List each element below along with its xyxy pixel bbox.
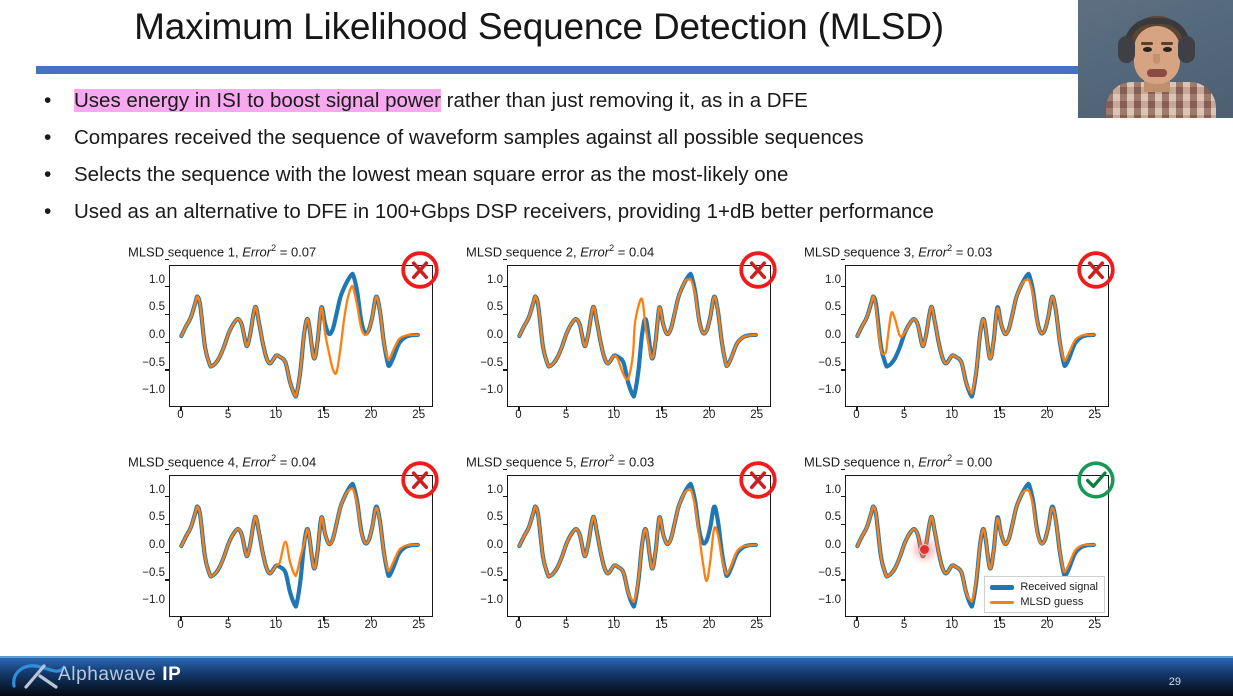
chart-legend: Received signalMLSD guess xyxy=(984,576,1105,613)
y-tick-label: −0.5 xyxy=(113,358,165,369)
panel-title-prefix: MLSD sequence xyxy=(128,244,224,259)
panel-title: MLSD sequence n, Error2 = 0.00 xyxy=(804,453,992,469)
bullet-rest-text: Compares received the sequence of wavefo… xyxy=(74,126,864,149)
panel-error-exponent: 2 xyxy=(947,243,952,253)
x-axis-ticks: 0510152025 xyxy=(169,409,433,425)
mlsd-panel-4: MLSD sequence 4, Error2 = 0.04−1.0−0.50.… xyxy=(112,453,449,653)
panel-error-exponent: 2 xyxy=(271,453,276,463)
mlsd-panel-5: MLSD sequence 5, Error2 = 0.03−1.0−0.50.… xyxy=(450,453,787,653)
bullet-item-1: •Uses energy in ISI to boost signal powe… xyxy=(36,86,1096,123)
bullet-item-4: •Used as an alternative to DFE in 100+Gb… xyxy=(36,197,1096,234)
x-tick-label: 5 xyxy=(901,409,907,421)
y-tick-label: 0.0 xyxy=(113,540,165,551)
panel-error-value: 0.07 xyxy=(291,244,316,259)
y-axis-ticks: −1.0−0.50.00.51.0 xyxy=(450,265,503,407)
panel-error-label: Error xyxy=(242,244,271,259)
bullet-rest-text: Used as an alternative to DFE in 100+Gbp… xyxy=(74,200,934,223)
x-tick-label: 0 xyxy=(515,409,521,421)
y-tick-label: −1.0 xyxy=(451,595,503,606)
y-tick-label: 1.0 xyxy=(789,485,841,496)
y-tick-label: 0.5 xyxy=(451,302,503,313)
x-tick-label: 0 xyxy=(853,409,859,421)
brand-bold-text: IP xyxy=(162,664,181,685)
bullet-list: •Uses energy in ISI to boost signal powe… xyxy=(36,86,1096,234)
panel-sequence-label: 4 xyxy=(228,454,235,469)
legend-swatch xyxy=(990,601,1014,604)
x-tick-label: 25 xyxy=(412,409,425,421)
x-tick-label: 25 xyxy=(1088,409,1101,421)
panel-error-value: 0.00 xyxy=(967,454,992,469)
x-tick-label: 25 xyxy=(1088,619,1101,631)
panel-error-label: Error xyxy=(918,244,947,259)
panel-error-label: Error xyxy=(242,454,271,469)
bullet-text: Compares received the sequence of wavefo… xyxy=(74,123,864,153)
y-tick-label: −0.5 xyxy=(451,358,503,369)
green-check-circle-icon xyxy=(1075,459,1117,501)
panel-title: MLSD sequence 2, Error2 = 0.04 xyxy=(466,243,654,259)
panel-title: MLSD sequence 1, Error2 = 0.07 xyxy=(128,243,316,259)
y-tick-label: −1.0 xyxy=(789,385,841,396)
panel-error-label: Error xyxy=(580,244,609,259)
x-tick-label: 10 xyxy=(607,619,620,631)
bullet-item-2: •Compares received the sequence of wavef… xyxy=(36,123,1096,160)
legend-label: Received signal xyxy=(1020,581,1098,593)
x-tick-label: 15 xyxy=(317,409,330,421)
panel-title-prefix: MLSD sequence xyxy=(804,244,900,259)
x-tick-label: 5 xyxy=(563,409,569,421)
x-tick-label: 0 xyxy=(853,619,859,631)
bullet-text: Selects the sequence with the lowest mea… xyxy=(74,160,788,190)
y-tick-label: −0.5 xyxy=(451,568,503,579)
panel-title: MLSD sequence 4, Error2 = 0.04 xyxy=(128,453,316,469)
y-tick-label: −1.0 xyxy=(451,385,503,396)
y-tick-label: 1.0 xyxy=(451,275,503,286)
x-axis-ticks: 0510152025 xyxy=(169,619,433,635)
y-tick-label: 1.0 xyxy=(451,485,503,496)
x-tick-label: 15 xyxy=(993,619,1006,631)
mlsd-guess-line xyxy=(519,489,755,602)
x-tick-label: 15 xyxy=(655,409,668,421)
legend-entry: MLSD guess xyxy=(990,596,1098,608)
plot-area[interactable]: Received signalMLSD guess xyxy=(845,475,1109,617)
red-x-circle-icon xyxy=(737,459,779,501)
x-tick-label: 5 xyxy=(901,619,907,631)
bullet-marker-icon: • xyxy=(36,86,74,116)
y-tick-label: −1.0 xyxy=(113,385,165,396)
x-tick-label: 25 xyxy=(750,619,763,631)
legend-swatch xyxy=(990,585,1014,590)
panel-error-exponent: 2 xyxy=(609,453,614,463)
slide-footer: Alphawave IP 29 xyxy=(0,656,1233,696)
bullet-marker-icon: • xyxy=(36,160,74,190)
y-axis-ticks: −1.0−0.50.00.51.0 xyxy=(788,475,841,617)
y-tick-label: 0.0 xyxy=(789,330,841,341)
mlsd-guess-line xyxy=(181,488,417,576)
legend-entry: Received signal xyxy=(990,581,1098,593)
page-title: Maximum Likelihood Sequence Detection (M… xyxy=(0,6,1078,48)
y-tick-label: 1.0 xyxy=(789,275,841,286)
y-tick-mark xyxy=(165,469,169,470)
panel-sequence-label: 3 xyxy=(904,244,911,259)
highlighted-phrase: Uses energy in ISI to boost signal power xyxy=(74,89,441,112)
title-divider-rule xyxy=(36,66,1078,74)
y-tick-mark xyxy=(841,469,845,470)
y-tick-label: −0.5 xyxy=(789,358,841,369)
panel-error-exponent: 2 xyxy=(271,243,276,253)
brand-light-text: Alphawave xyxy=(58,664,162,685)
mlsd-panel-3: MLSD sequence 3, Error2 = 0.03−1.0−0.50.… xyxy=(788,243,1125,443)
bullet-rest-text: rather than just removing it, as in a DF… xyxy=(441,89,808,112)
panel-error-exponent: 2 xyxy=(947,453,952,463)
bullet-text: Uses energy in ISI to boost signal power… xyxy=(74,86,808,116)
panel-sequence-label: n xyxy=(904,454,911,469)
plot-area[interactable] xyxy=(169,475,433,617)
x-tick-label: 20 xyxy=(703,619,716,631)
x-tick-label: 20 xyxy=(365,409,378,421)
panel-sequence-label: 5 xyxy=(566,454,573,469)
x-axis-ticks: 0510152025 xyxy=(507,409,771,425)
page-number: 29 xyxy=(1169,676,1181,688)
panel-error-label: Error xyxy=(918,454,947,469)
bullet-item-3: •Selects the sequence with the lowest me… xyxy=(36,160,1096,197)
panel-title-prefix: MLSD sequence xyxy=(128,454,224,469)
red-x-circle-icon xyxy=(399,459,441,501)
y-tick-label: 0.5 xyxy=(789,302,841,313)
panel-title-prefix: MLSD sequence xyxy=(804,454,900,469)
y-tick-label: −0.5 xyxy=(113,568,165,579)
x-tick-label: 25 xyxy=(750,409,763,421)
y-tick-label: 0.5 xyxy=(451,512,503,523)
red-x-circle-icon xyxy=(399,249,441,291)
mlsd-guess-line xyxy=(857,279,1093,393)
y-tick-label: 1.0 xyxy=(113,485,165,496)
x-tick-label: 25 xyxy=(412,619,425,631)
y-tick-mark xyxy=(841,259,845,260)
y-tick-label: −0.5 xyxy=(789,568,841,579)
panel-error-exponent: 2 xyxy=(609,243,614,253)
y-axis-ticks: −1.0−0.50.00.51.0 xyxy=(450,475,503,617)
y-tick-mark xyxy=(503,259,507,260)
panel-title-prefix: MLSD sequence xyxy=(466,454,562,469)
plot-area[interactable] xyxy=(507,475,771,617)
y-tick-mark xyxy=(165,259,169,260)
x-tick-label: 15 xyxy=(993,409,1006,421)
mlsd-panel-2: MLSD sequence 2, Error2 = 0.04−1.0−0.50.… xyxy=(450,243,787,443)
y-axis-ticks: −1.0−0.50.00.51.0 xyxy=(112,475,165,617)
y-tick-label: 1.0 xyxy=(113,275,165,286)
footer-top-rule xyxy=(0,656,1233,658)
headphone-earcup-left-icon xyxy=(1118,36,1135,63)
x-tick-label: 5 xyxy=(563,619,569,631)
x-tick-label: 10 xyxy=(607,409,620,421)
bullet-marker-icon: • xyxy=(36,123,74,153)
plot-area[interactable] xyxy=(845,265,1109,407)
panel-sequence-label: 1 xyxy=(228,244,235,259)
x-tick-label: 20 xyxy=(365,619,378,631)
panel-error-value: 0.03 xyxy=(967,244,992,259)
x-tick-label: 20 xyxy=(1041,409,1054,421)
x-tick-label: 0 xyxy=(515,619,521,631)
x-tick-label: 15 xyxy=(655,619,668,631)
panel-title: MLSD sequence 5, Error2 = 0.03 xyxy=(466,453,654,469)
panel-error-value: 0.03 xyxy=(629,454,654,469)
mlsd-panel-6: MLSD sequence n, Error2 = 0.00−1.0−0.50.… xyxy=(788,453,1125,653)
x-tick-label: 10 xyxy=(269,619,282,631)
y-tick-label: 0.0 xyxy=(789,540,841,551)
x-tick-label: 20 xyxy=(703,409,716,421)
panel-error-value: 0.04 xyxy=(291,454,316,469)
presenter-mouth xyxy=(1147,69,1167,77)
x-tick-label: 5 xyxy=(225,619,231,631)
panel-error-label: Error xyxy=(580,454,609,469)
legend-label: MLSD guess xyxy=(1020,596,1083,608)
x-axis-ticks: 0510152025 xyxy=(845,409,1109,425)
panel-title: MLSD sequence 3, Error2 = 0.03 xyxy=(804,243,992,259)
x-tick-label: 20 xyxy=(1041,619,1054,631)
y-tick-label: 0.0 xyxy=(451,330,503,341)
y-tick-label: 0.0 xyxy=(113,330,165,341)
presenter-eye-left xyxy=(1143,47,1152,52)
x-tick-label: 0 xyxy=(177,409,183,421)
y-tick-label: 0.5 xyxy=(113,302,165,313)
slide-canvas: Maximum Likelihood Sequence Detection (M… xyxy=(0,0,1233,696)
presenter-nose xyxy=(1153,54,1160,64)
y-tick-label: −1.0 xyxy=(789,595,841,606)
x-tick-label: 10 xyxy=(945,619,958,631)
y-tick-label: −1.0 xyxy=(113,595,165,606)
y-tick-label: 0.0 xyxy=(451,540,503,551)
presenter-eye-right xyxy=(1163,47,1172,52)
x-tick-label: 15 xyxy=(317,619,330,631)
plot-area[interactable] xyxy=(169,265,433,407)
x-tick-label: 10 xyxy=(945,409,958,421)
headphone-earcup-right-icon xyxy=(1178,36,1195,63)
red-x-circle-icon xyxy=(737,249,779,291)
x-tick-label: 0 xyxy=(177,619,183,631)
mlsd-panel-1: MLSD sequence 1, Error2 = 0.07−1.0−0.50.… xyxy=(112,243,449,443)
x-tick-label: 5 xyxy=(225,409,231,421)
x-axis-ticks: 0510152025 xyxy=(507,619,771,635)
panel-title-prefix: MLSD sequence xyxy=(466,244,562,259)
y-axis-ticks: −1.0−0.50.00.51.0 xyxy=(112,265,165,407)
y-tick-label: 0.5 xyxy=(789,512,841,523)
y-tick-label: 0.5 xyxy=(113,512,165,523)
bullet-marker-icon: • xyxy=(36,197,74,227)
red-x-circle-icon xyxy=(1075,249,1117,291)
bullet-rest-text: Selects the sequence with the lowest mea… xyxy=(74,163,788,186)
figure-grid: MLSD sequence 1, Error2 = 0.07−1.0−0.50.… xyxy=(112,243,1127,643)
bullet-text: Used as an alternative to DFE in 100+Gbp… xyxy=(74,197,934,227)
panel-sequence-label: 2 xyxy=(566,244,573,259)
panel-error-value: 0.04 xyxy=(629,244,654,259)
y-axis-ticks: −1.0−0.50.00.51.0 xyxy=(788,265,841,407)
cursor-marker-dot xyxy=(919,544,930,555)
presenter-video-thumbnail[interactable] xyxy=(1078,0,1233,118)
brand-wordmark: Alphawave IP xyxy=(58,664,181,686)
y-tick-mark xyxy=(503,469,507,470)
x-axis-ticks: 0510152025 xyxy=(845,619,1109,635)
plot-area[interactable] xyxy=(507,265,771,407)
x-tick-label: 10 xyxy=(269,409,282,421)
